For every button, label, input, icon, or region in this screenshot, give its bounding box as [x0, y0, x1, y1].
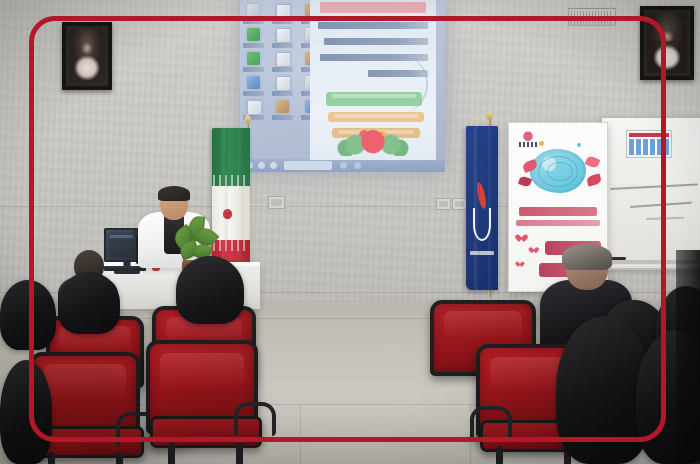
slide-content	[310, 0, 436, 160]
wall-socket	[452, 198, 467, 210]
desktop-icon	[275, 4, 290, 24]
audience-member-hijab	[58, 272, 120, 334]
screenshot-root	[0, 0, 700, 464]
desktop-icon	[275, 52, 290, 72]
desktop-icon	[275, 100, 290, 120]
desktop-icon	[246, 4, 261, 24]
whiteboard	[600, 116, 700, 270]
ministry-of-health-flag	[466, 126, 498, 290]
wall-socket	[268, 196, 285, 209]
desktop-icon	[246, 52, 261, 72]
flag-pole-finial	[486, 111, 493, 120]
projection-area	[240, 0, 445, 172]
auditorium-chair	[146, 340, 258, 434]
portrait-khamenei	[640, 6, 694, 80]
desktop-icon	[246, 76, 261, 96]
slide-info-pill	[328, 112, 424, 122]
presenter-hair	[158, 186, 190, 201]
banner-petal	[584, 155, 600, 170]
slide-body-line	[324, 38, 428, 45]
desktop-icon	[275, 76, 290, 96]
whiteboard-note-card	[626, 130, 672, 158]
desktop-icon	[246, 28, 261, 48]
banner-date-text	[519, 207, 597, 216]
foreground-shadow	[676, 250, 700, 464]
audience-member-hijab	[176, 256, 244, 324]
slide-title-bar	[320, 2, 426, 13]
photograph	[0, 0, 700, 464]
air-vent	[568, 8, 616, 26]
projected-taskbar	[240, 159, 445, 172]
attendee-hair	[562, 244, 612, 270]
banner-logo	[517, 129, 539, 147]
whiteboard-handwriting	[630, 202, 692, 208]
banner-heart-icon	[518, 262, 524, 267]
audience-member-hijab	[0, 360, 52, 464]
floor-seam	[300, 404, 301, 464]
banner-subtitle-text	[516, 220, 600, 226]
banner-confetti	[577, 143, 581, 147]
banner-heart-icon	[532, 248, 538, 254]
audience-member-hijab	[0, 280, 56, 350]
banner-heart-icon	[519, 235, 527, 242]
whiteboard-handwriting	[646, 217, 684, 220]
wall-socket	[436, 198, 451, 210]
portrait-image	[647, 13, 687, 73]
glasses-detail	[653, 41, 682, 48]
portrait-khomeini	[62, 22, 112, 90]
portrait-image	[69, 29, 105, 83]
flag-band-green	[212, 128, 250, 186]
banner-confetti	[539, 141, 544, 146]
brain-illustration	[530, 149, 586, 193]
flag-pole-finial	[244, 115, 251, 124]
whiteboard-handwriting	[610, 183, 698, 190]
slide-flower-graphic	[336, 126, 410, 156]
banner-petal	[586, 173, 602, 186]
desktop-icon	[275, 28, 290, 48]
slide-body-line	[318, 22, 428, 29]
